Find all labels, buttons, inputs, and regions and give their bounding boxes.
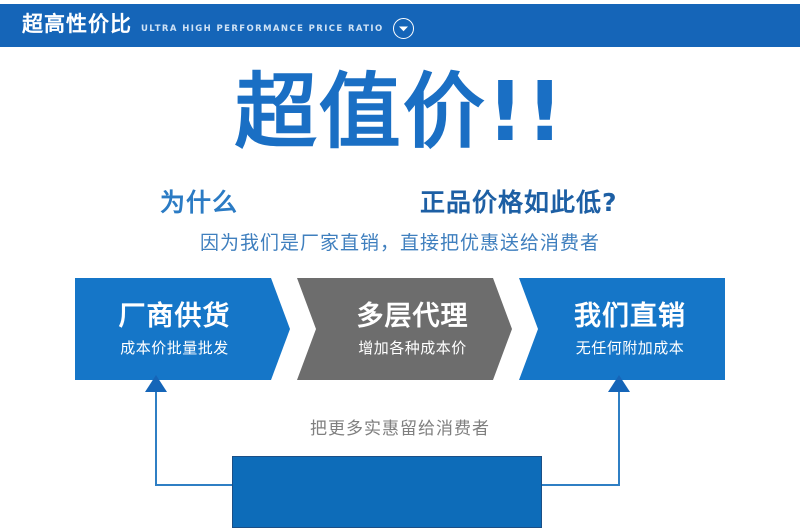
loop-connector-left-vertical — [155, 390, 157, 485]
loop-caption: 把更多实惠留给消费者 — [0, 421, 800, 438]
flow-step-title: 厂商供货 — [119, 303, 231, 330]
header-title-cn: 超高性价比 — [22, 14, 132, 35]
description-line: 因为我们是厂家直销，直接把优惠送给消费者 — [0, 234, 800, 253]
header-title-group: 超高性价比 ULTRA HIGH PERFORMANCE PRICE RATIO — [22, 14, 414, 38]
loop-connector-left-horizontal — [155, 484, 233, 486]
loop-arrow-right-icon — [608, 375, 630, 392]
flow-step-subtitle: 无任何附加成本 — [576, 341, 685, 356]
loop-connector-right-vertical — [618, 390, 620, 485]
header-bar: 超高性价比 ULTRA HIGH PERFORMANCE PRICE RATIO — [0, 4, 800, 47]
loop-bottom-bar — [232, 456, 542, 528]
subheading-question-left: 为什么 — [160, 190, 238, 215]
loop-arrow-left-icon — [145, 375, 167, 392]
loop-connector-right-horizontal — [542, 484, 620, 486]
main-headline: 超值价!! — [0, 72, 800, 154]
subheading-row: 为什么 正品价格如此低? — [0, 190, 800, 222]
flow-step-supplier: 厂商供货 成本价批量批发 — [75, 278, 290, 380]
chevron-down-circle-icon[interactable] — [393, 18, 414, 39]
flow-step-title: 我们直销 — [574, 303, 686, 330]
flow-step-direct-sales: 我们直销 无任何附加成本 — [519, 278, 725, 380]
header-title-en: ULTRA HIGH PERFORMANCE PRICE RATIO — [141, 25, 384, 34]
flow-step-title: 多层代理 — [357, 303, 469, 330]
subheading-question-right: 正品价格如此低? — [420, 190, 618, 215]
flow-diagram: 厂商供货 成本价批量批发 多层代理 增加各种成本价 我们直销 无任何附加成本 — [75, 278, 725, 380]
flow-step-agents: 多层代理 增加各种成本价 — [297, 278, 512, 380]
flow-step-subtitle: 成本价批量批发 — [120, 341, 229, 356]
flow-step-subtitle: 增加各种成本价 — [358, 341, 467, 356]
